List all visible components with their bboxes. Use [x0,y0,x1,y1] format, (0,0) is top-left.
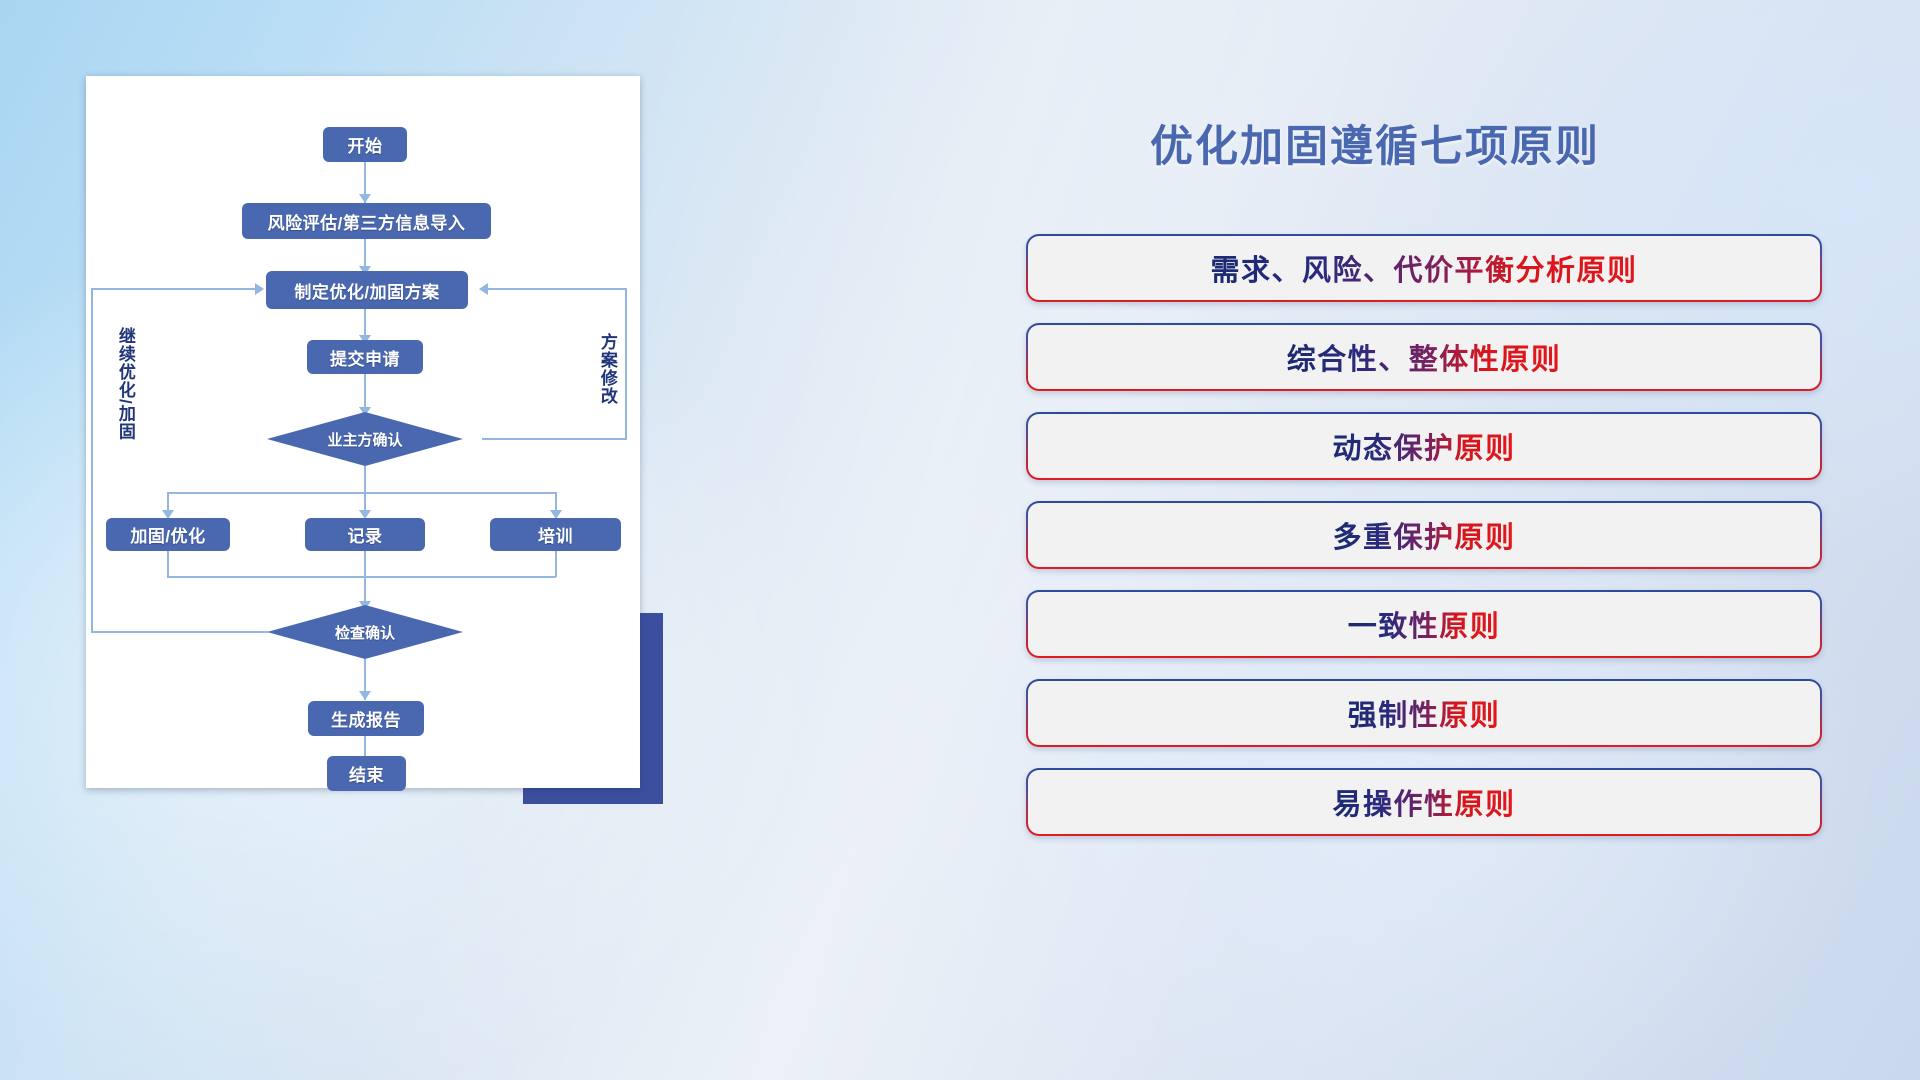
connector-fanout-bus [167,492,556,494]
connector-right-loop-horizontal-bottom [482,438,627,440]
connector-owner-to-fanout [364,466,366,493]
slide-canvas: 开始 风险评估/第三方信息导入 制定优化/加固方案 继续优化/加固 方案修改 提… [0,0,1920,1080]
flow-node-record[interactable]: 记录 [305,518,425,551]
principle-label: 易操作性原则 [1332,781,1515,823]
principle-item[interactable]: 一致性原则 [1026,590,1822,658]
connector-right-loop-horizontal-top [488,288,627,290]
connector-fanin-right-rise [555,551,557,577]
connector-fanin-left-rise [167,551,169,577]
principle-item[interactable]: 多重保护原则 [1026,501,1822,569]
flow-node-submit-application[interactable]: 提交申请 [307,340,423,374]
flow-node-risk-assessment[interactable]: 风险评估/第三方信息导入 [242,203,491,239]
arrow-start-to-risk [359,194,371,203]
flowchart-card: 开始 风险评估/第三方信息导入 制定优化/加固方案 继续优化/加固 方案修改 提… [86,76,640,788]
principle-item[interactable]: 动态保护原则 [1026,412,1822,480]
principle-label: 动态保护原则 [1332,425,1515,467]
flow-node-check-confirm[interactable]: 检查确认 [267,605,463,659]
principle-label: 多重保护原则 [1332,514,1515,556]
principle-item[interactable]: 需求、风险、代价平衡分析原则 [1026,234,1822,302]
flow-node-start[interactable]: 开始 [323,127,407,162]
principle-item-inner: 一致性原则 [1028,592,1819,655]
edge-label-right-loop: 方案修改 [598,319,616,419]
principle-item[interactable]: 强制性原则 [1026,679,1822,747]
flow-node-reinforce-optimize[interactable]: 加固/优化 [106,518,230,551]
principle-label: 需求、风险、代价平衡分析原则 [1210,247,1637,289]
principle-item-inner: 综合性、整体性原则 [1028,325,1819,388]
flow-node-owner-confirm[interactable]: 业主方确认 [267,412,463,466]
principle-item[interactable]: 易操作性原则 [1026,768,1822,836]
flow-node-make-plan[interactable]: 制定优化/加固方案 [266,271,468,309]
panel-title: 优化加固遵循七项原则 [1150,112,1600,174]
arrow-right-loop-into-plan [479,283,488,295]
principle-label: 一致性原则 [1348,603,1501,645]
connector-fanin-bus [167,576,556,578]
principle-item-inner: 易操作性原则 [1028,770,1819,833]
arrow-left-loop-into-plan [255,283,264,295]
principle-item-inner: 动态保护原则 [1028,414,1819,477]
principle-label: 综合性、整体性原则 [1287,336,1562,378]
principle-label: 强制性原则 [1348,692,1501,734]
flow-node-generate-report[interactable]: 生成报告 [308,701,424,736]
connector-left-loop-vertical [91,288,93,632]
connector-check-to-left-loop [91,631,269,633]
arrow-check-to-report [359,691,371,700]
connector-right-loop-vertical [625,288,627,439]
flow-node-training[interactable]: 培训 [490,518,621,551]
principle-item[interactable]: 综合性、整体性原则 [1026,323,1822,391]
principle-item-inner: 需求、风险、代价平衡分析原则 [1028,236,1819,299]
principle-item-inner: 多重保护原则 [1028,503,1819,566]
principle-item-inner: 强制性原则 [1028,681,1819,744]
connector-left-loop-horizontal-top [91,288,257,290]
principles-list: 需求、风险、代价平衡分析原则 综合性、整体性原则 动态保护原则 多重保护原则 一… [1026,234,1822,857]
flow-node-end[interactable]: 结束 [327,756,406,791]
edge-label-left-loop: 继续优化/加固 [116,319,134,449]
